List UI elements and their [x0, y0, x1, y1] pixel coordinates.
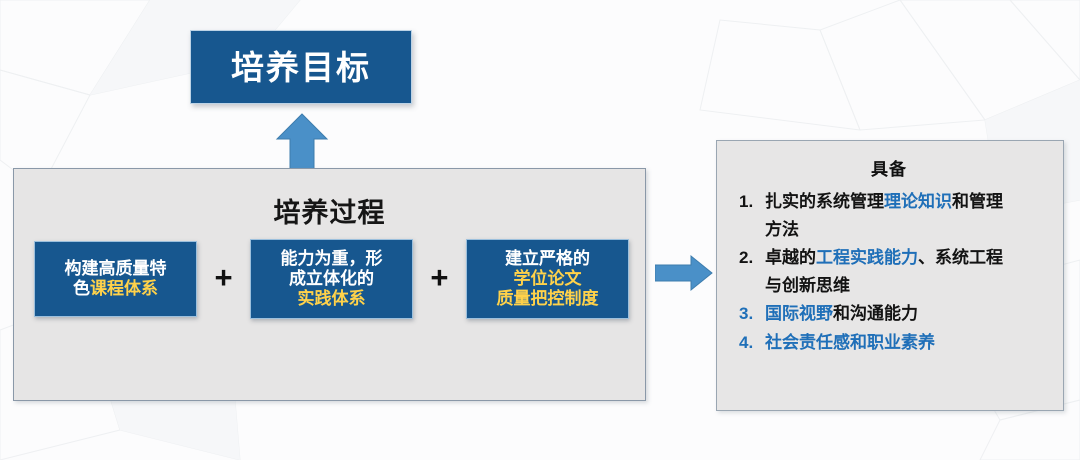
- goal-title-banner: 培养目标: [190, 30, 412, 104]
- thesis-line-2: 学位论文: [513, 269, 581, 289]
- practice-line-2: 成立体化的: [289, 269, 374, 289]
- thesis-line1-white: 建立严格的: [505, 249, 590, 268]
- plus-operator-2: +: [430, 262, 448, 297]
- practice-line-1: 能力为重，形: [280, 249, 382, 269]
- thesis-line-1: 建立严格的: [505, 249, 590, 269]
- outcome-panel-title: 具备: [731, 155, 1047, 180]
- course-system-line-2: 色课程体系: [73, 279, 158, 299]
- outcome-2-seg-1: 卓越的: [765, 248, 816, 267]
- outcome-list: 1. 扎实的系统管理理论知识和管理方法 2. 卓越的工程实践能力、系统工程与创新…: [731, 188, 1047, 356]
- course-system-line-1: 构建高质量特: [65, 259, 167, 279]
- outcome-1-seg-1: 扎实的系统管理: [765, 192, 884, 211]
- practice-system-box[interactable]: 能力为重，形 成立体化的 实践体系: [250, 239, 413, 319]
- course-line1-white: 构建高质量特: [65, 259, 167, 278]
- process-heading: 培养过程: [14, 191, 645, 230]
- outcome-text-4: 社会责任感和职业素养: [765, 329, 1047, 357]
- outcome-number-2: 2.: [731, 244, 765, 272]
- outcome-number-4: 4.: [731, 329, 765, 357]
- outcome-4-seg-1: 社会责任感和职业素养: [765, 333, 935, 352]
- practice-line1-white: 能力为重，形: [280, 249, 382, 268]
- course-line2-yellow: 课程体系: [90, 279, 158, 298]
- goal-title-text: 培养目标: [231, 51, 371, 84]
- list-item: 2. 卓越的工程实践能力、系统工程与创新思维: [731, 244, 1047, 299]
- practice-line2-white: 成立体化的: [289, 269, 374, 288]
- diagram-stage: 培养目标 培养过程 构建高质量特 色课程体系 + 能力为重，形: [0, 0, 1080, 460]
- outcome-text-2: 卓越的工程实践能力、系统工程与创新思维: [765, 244, 1047, 299]
- outcome-3-seg-1: 国际视野: [765, 304, 833, 323]
- practice-line3-yellow: 实践体系: [297, 289, 365, 308]
- outcome-2-seg-2: 工程实践能力: [816, 248, 918, 267]
- outcome-1-seg-4: 方法: [765, 220, 799, 239]
- outcome-1-seg-2: 理论知识: [884, 192, 952, 211]
- up-arrow-icon: [275, 112, 329, 172]
- thesis-line2-yellow: 学位论文: [513, 269, 581, 288]
- outcome-panel: 具备 1. 扎实的系统管理理论知识和管理方法 2. 卓越的工程实践能力、系统工程…: [716, 140, 1064, 411]
- outcome-text-3: 国际视野和沟通能力: [765, 300, 1047, 328]
- outcome-text-1: 扎实的系统管理理论知识和管理方法: [765, 188, 1047, 243]
- thesis-line-3: 质量把控制度: [496, 289, 598, 309]
- plus-operator-1: +: [214, 262, 232, 297]
- outcome-1-seg-3: 和管理: [952, 192, 1003, 211]
- course-line2-white: 色: [73, 279, 90, 298]
- thesis-line3-yellow: 质量把控制度: [496, 289, 598, 308]
- course-system-box[interactable]: 构建高质量特 色课程体系: [34, 241, 197, 317]
- list-item: 3. 国际视野和沟通能力: [731, 300, 1047, 328]
- right-arrow-icon: [655, 254, 713, 292]
- list-item: 1. 扎实的系统管理理论知识和管理方法: [731, 188, 1047, 243]
- practice-line-3: 实践体系: [297, 289, 365, 309]
- list-item: 4. 社会责任感和职业素养: [731, 329, 1047, 357]
- outcome-number-1: 1.: [731, 188, 765, 216]
- outcome-2-seg-3: 、系统工程: [918, 248, 1003, 267]
- process-box-row: 构建高质量特 色课程体系 + 能力为重，形 成立体化的 实践体系 +: [34, 239, 629, 319]
- thesis-quality-box[interactable]: 建立严格的 学位论文 质量把控制度: [466, 239, 629, 319]
- outcome-3-seg-2: 和沟通能力: [833, 304, 918, 323]
- outcome-2-seg-4: 与创新思维: [765, 276, 850, 295]
- process-panel: 培养过程 构建高质量特 色课程体系 + 能力为重，形 成立体化的: [13, 168, 646, 401]
- outcome-number-3: 3.: [731, 300, 765, 328]
